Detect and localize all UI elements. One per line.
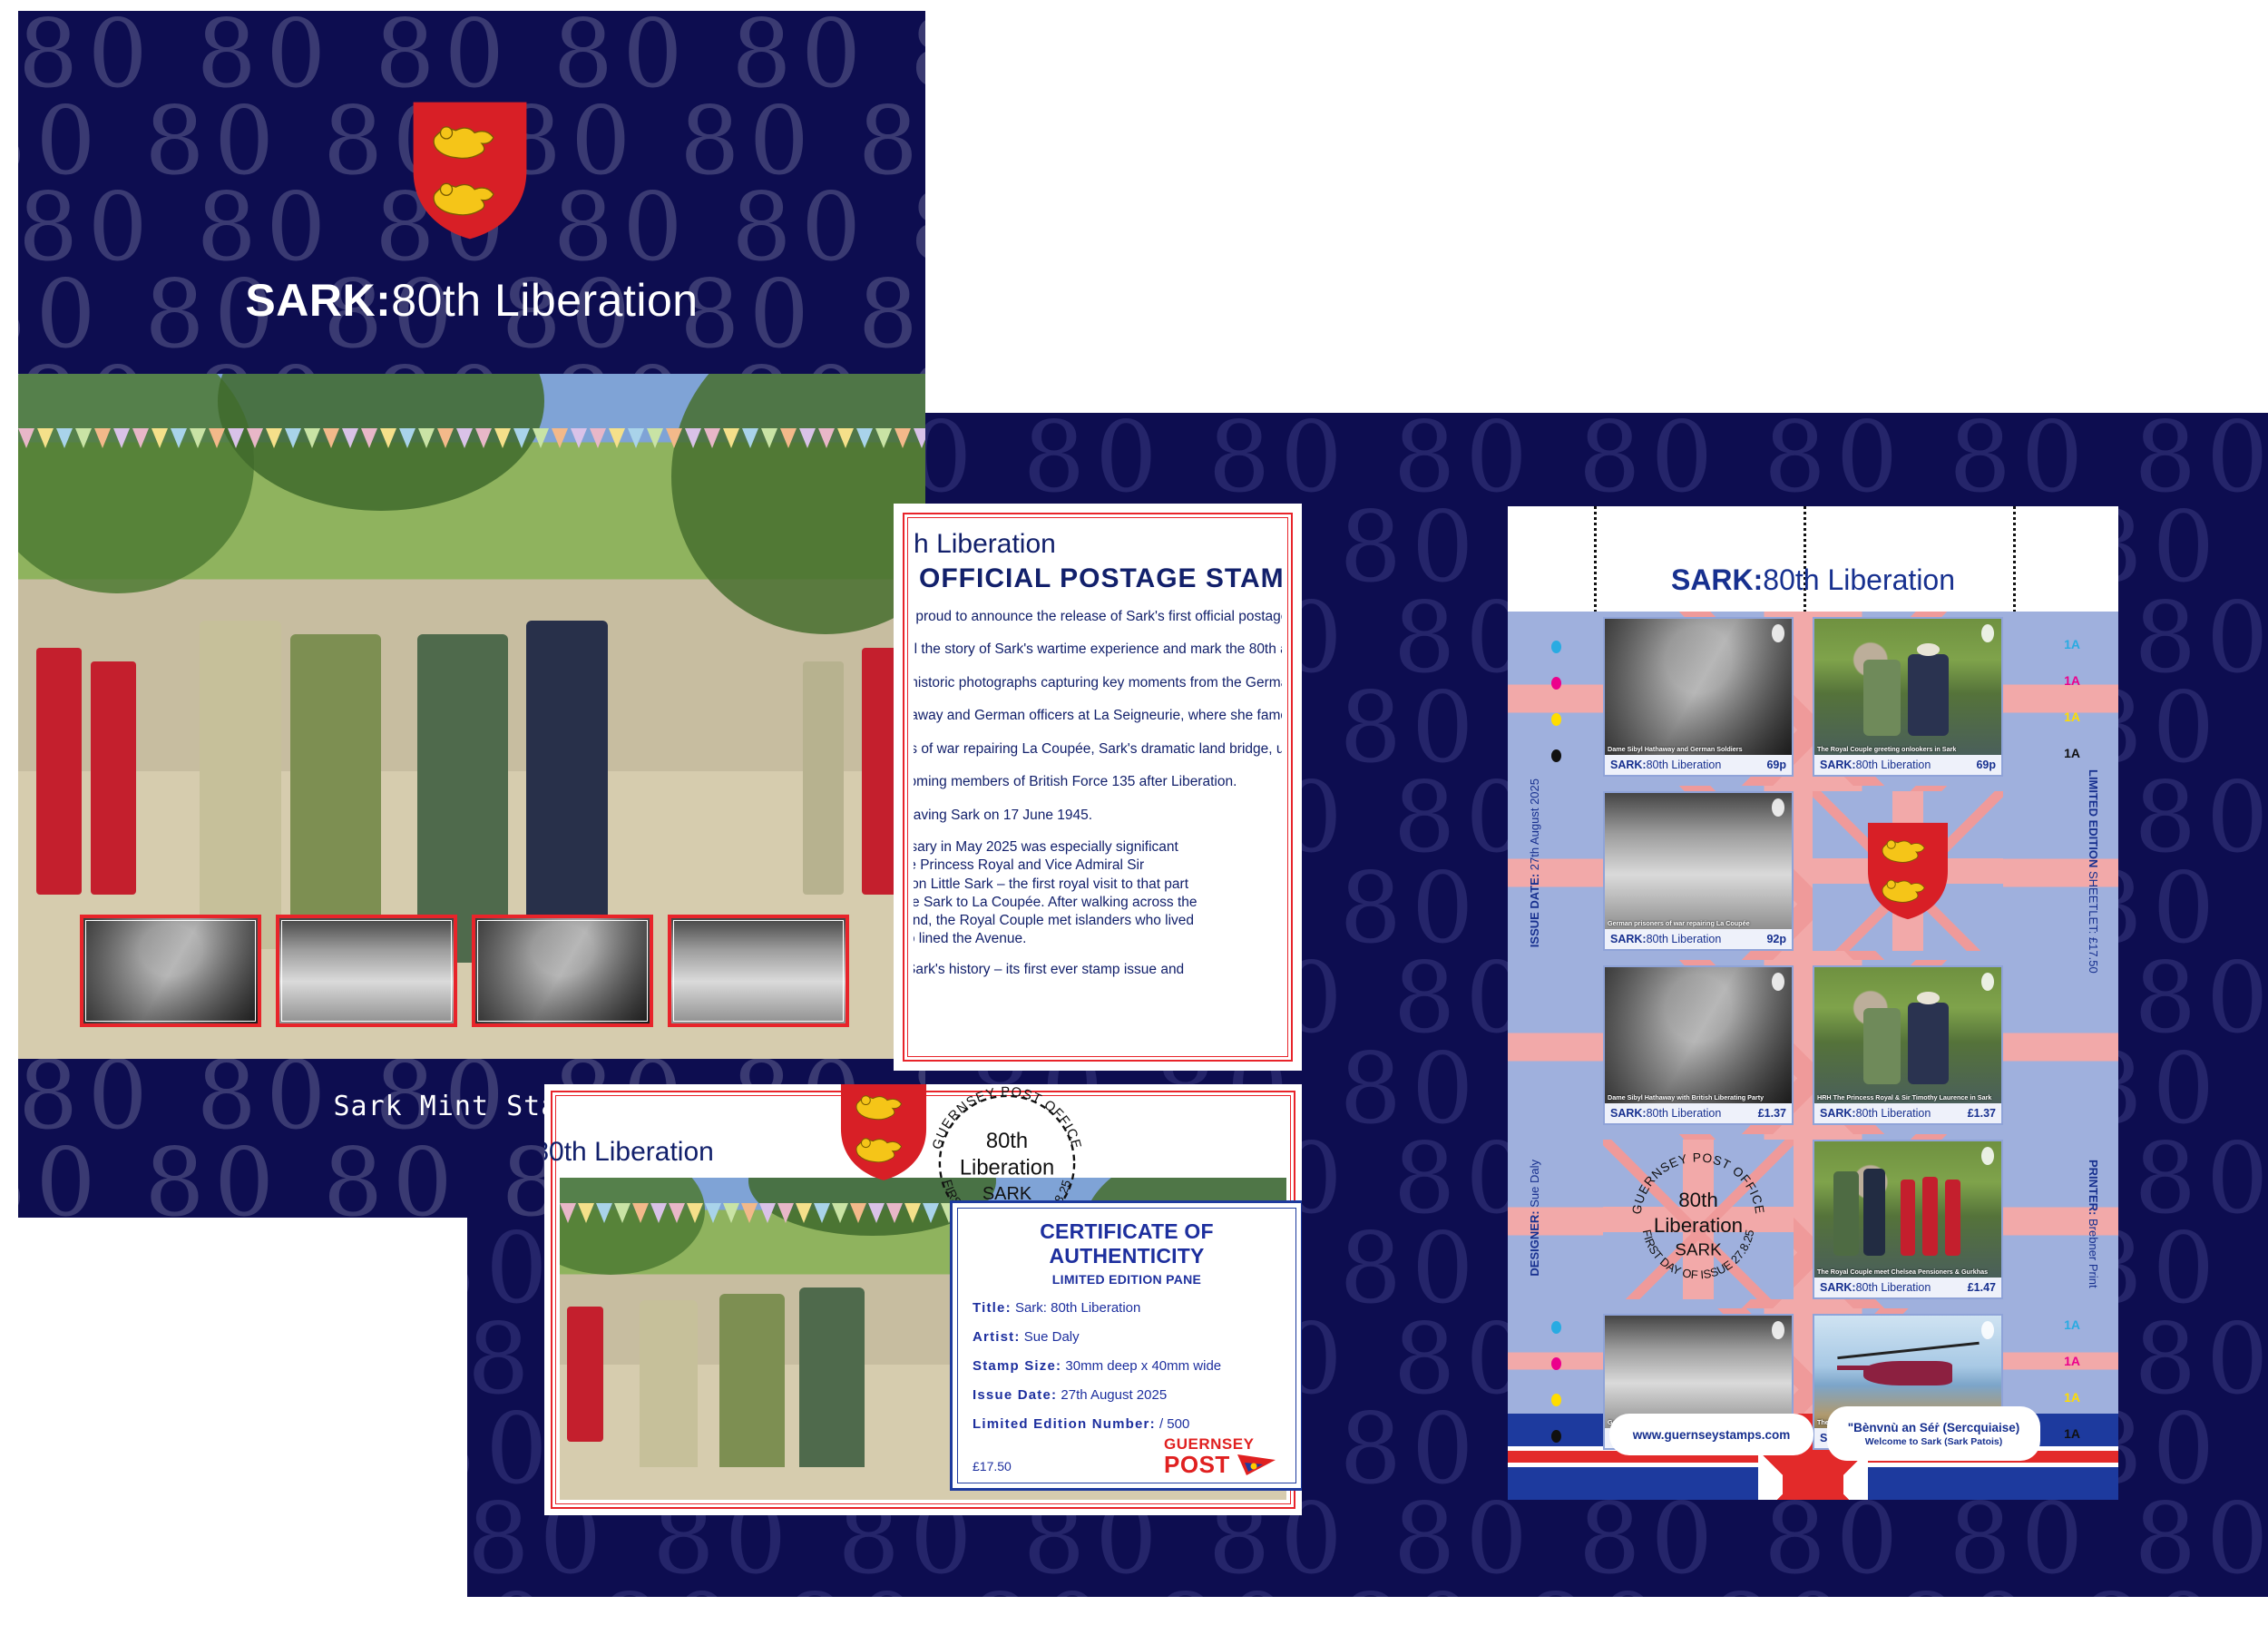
sheet-postmark-line-1: 80th (1678, 1189, 1718, 1211)
bunting-flag (723, 428, 739, 448)
bunting-flag (228, 428, 244, 448)
ink-dot-3 (1551, 1430, 1561, 1443)
certificate-price: £17.50 (973, 1459, 1012, 1473)
sheet-label-designer-key: DESIGNER: (1528, 1210, 1541, 1276)
stamp-4[interactable]: Dame Sibyl Hathaway with British Liberat… (1603, 965, 1794, 1125)
bunting-flag (37, 428, 54, 448)
certificate-row: Limited Edition Number: / 500 (973, 1416, 1281, 1432)
bunting-flag (113, 428, 130, 448)
leaflet-closing-line-1: nal milestone in Sark's history – its fi… (914, 961, 1282, 979)
certificate-leaflet: Sark: 80th Liberation (544, 1084, 1302, 1515)
plate-number-3: 1A (2064, 746, 2080, 760)
stamp-image (1814, 967, 2001, 1103)
guernsey-post-swoosh-icon (1236, 1452, 1277, 1477)
bunting-flag (647, 428, 663, 448)
plate-number-1: 1A (2064, 673, 2080, 688)
plate-number-0: 1A (2064, 1317, 2080, 1332)
plate-number-2: 1A (2064, 1390, 2080, 1405)
plate-number-3: 1A (2064, 1426, 2080, 1441)
cover-thumbnail-german-troops-leaving (668, 915, 849, 1027)
bunting-flag (418, 428, 435, 448)
bunting-flag (323, 428, 339, 448)
stamp-footer: SARK:80th Liberation£1.47 (1814, 1278, 2001, 1297)
leaflet-closing: nal milestone in Sark's history – its fi… (914, 961, 1282, 997)
bunting-flag (796, 1203, 812, 1223)
stamp-footer: SARK:80th Liberation£1.37 (1605, 1103, 1792, 1123)
sheet-postmark-cell: GUERNSEY POST OFFICEFIRST DAY OF ISSUE 2… (1603, 1140, 1794, 1299)
bunting-flag (761, 428, 777, 448)
leaflet-para-6: Dame Sibyl welcoming members of British … (914, 772, 1282, 792)
bunting-decor (18, 428, 925, 459)
stamp-elliptical-perf (1772, 973, 1784, 991)
stamp-caption: HRH The Princess Royal & Sir Timothy Lau… (1817, 1093, 1999, 1101)
sheet-label-designer: DESIGNER: Sue Daly (1528, 1160, 1541, 1277)
leaflet-block-line-2: stamps. HRH The Princess Royal and Vice … (914, 857, 1282, 875)
bunting-flag (437, 428, 454, 448)
leaflet-block-line-6: and Gurkhas who lined the Avenue. (914, 930, 1282, 948)
bunting-flag (571, 428, 587, 448)
stamp-caption: Dame Sibyl Hathaway with British Liberat… (1608, 1093, 1789, 1101)
leaflet-para-3: The set features historic photographs ca… (914, 673, 1282, 693)
stamp-2[interactable]: The Royal Couple greeting onlookers in S… (1813, 617, 2003, 777)
stamp-1[interactable]: Dame Sibyl Hathaway and German SoldiersS… (1603, 617, 1794, 777)
bunting-flag (666, 428, 682, 448)
ink-dot-1 (1551, 1357, 1561, 1370)
sheet-label-limited-edition-value: SHEETLET: £17.50 (2087, 871, 2100, 974)
plate-number-0: 1A (2064, 637, 2080, 651)
leaflet-para-2: stamp issue to tell the story of Sark's … (914, 640, 1282, 660)
bunting-flag (399, 428, 415, 448)
bunting-flag (868, 1203, 885, 1223)
certificate-card: CERTIFICATE OF AUTHENTICITY LIMITED EDIT… (950, 1200, 1302, 1491)
leaflet-body: Sark: 80th Liberation FIRST OFFICIAL POS… (914, 529, 1282, 1049)
certleaf-partial-title: Sark: 80th Liberation (544, 1137, 714, 1168)
bunting-flag (152, 428, 168, 448)
bunting-flag (18, 428, 34, 448)
leaflet-title-2: FIRST OFFICIAL POSTAGE STAMPS (914, 563, 1282, 594)
bunting-flag (723, 1203, 739, 1223)
eighty-pattern-row: 80 80 80 80 80 80 80 80 80 80 80 80 80 8… (467, 1585, 2268, 1597)
stamp-elliptical-perf (1981, 1147, 1994, 1165)
sheet-postmark-line-3: SARK (1675, 1241, 1722, 1260)
bunting-flag (75, 428, 92, 448)
bunting-flag (361, 428, 377, 448)
certificate-row-value: Sark: 80th Liberation (1015, 1300, 1140, 1316)
sheet-website-pill[interactable]: www.guernseystamps.com (1609, 1414, 1813, 1455)
cover-title-bold: SARK (245, 275, 376, 326)
leaflet-title-1: Sark: 80th Liberation (914, 529, 1282, 560)
cover-title-colon: : (376, 275, 391, 326)
bunting-flag (614, 1203, 631, 1223)
sheet-website-text: www.guernseystamps.com (1633, 1428, 1791, 1442)
plate-number-2: 1A (2064, 710, 2080, 724)
guernsey-post-logo-line1: GUERNSEY (1164, 1436, 1286, 1452)
stamp-label-light: 80th Liberation (1856, 759, 1931, 771)
leaflet-para-4: Dame Sibyl Hathaway and German officers … (914, 706, 1282, 726)
leaflet-para-5: German prisoners of war repairing La Cou… (914, 739, 1282, 759)
stamp-label-light: 80th Liberation (1647, 759, 1722, 771)
bunting-flag (777, 1203, 794, 1223)
plate-number-1: 1A (2064, 1354, 2080, 1368)
sheet-patois-line2: Welcome to Sark (Sark Patois) (1865, 1436, 2003, 1447)
leaflet-block: The 80th anniversary in May 2025 was esp… (914, 838, 1282, 948)
bunting-flag (669, 1203, 685, 1223)
bunting-flag (513, 428, 530, 448)
bunting-flag (904, 1203, 921, 1223)
sheet-header-title: SARK:80th Liberation (1508, 548, 2118, 612)
stamp-footer: SARK:80th Liberation69p (1814, 755, 2001, 775)
cover-thumbnail-strip (80, 915, 849, 1027)
bunting-flag (494, 428, 511, 448)
sheet-label-printer-key: PRINTER: (2087, 1160, 2100, 1215)
bunting-flag (552, 428, 568, 448)
bunting-flag (132, 428, 149, 448)
booklet-cover: 80 80 80 80 80 80 80 80 80 80 80 80 80 8… (18, 11, 925, 1218)
stamp-image (1814, 619, 2001, 755)
certificate-row-value: Sue Daly (1024, 1329, 1080, 1345)
bunting-flag (759, 1203, 776, 1223)
sheet-patois-pill: "Bènvnù an Séṙ (Sercquiaise) Welcome to … (1827, 1406, 2040, 1461)
leaflet-closing-line-2: d heritage. (914, 979, 1282, 997)
bunting-flag (475, 428, 492, 448)
sheet-postmark-line-2: Liberation (1654, 1214, 1743, 1237)
certificate-row: Issue Date: 27th August 2025 (973, 1387, 1281, 1403)
sheet-label-issue-date: ISSUE DATE: 27th August 2025 (1528, 778, 1541, 947)
ink-dot-0 (1551, 1321, 1561, 1334)
bunting-flag (209, 428, 225, 448)
stamp-value: £1.37 (1758, 1107, 1786, 1120)
stamp-elliptical-perf (1772, 1321, 1784, 1339)
stamp-label-bold: SARK (1610, 759, 1642, 771)
leaflet-block-line-5: with the main island, the Royal Couple m… (914, 912, 1282, 930)
stamp-value: 69p (1766, 759, 1786, 771)
ink-dot-3 (1551, 749, 1561, 762)
stamp-caption: The Royal Couple meet Chelsea Pensioners… (1817, 1268, 1999, 1276)
stamp-label-light: 80th Liberation (1647, 933, 1722, 945)
certificate-row-value: / 500 (1159, 1416, 1189, 1432)
stamp-6[interactable]: The Royal Couple meet Chelsea Pensioners… (1813, 1140, 2003, 1299)
bunting-flag (687, 1203, 703, 1223)
sheet-label-limited-edition: LIMITED EDITION SHEETLET: £17.50 (2087, 769, 2100, 974)
ink-dot-1 (1551, 677, 1561, 690)
sark-shield-icon (410, 100, 530, 241)
bunting-flag (609, 428, 625, 448)
certificate-row-value: 27th August 2025 (1061, 1387, 1167, 1403)
leaflet-block-line-3: ing by helicopter on Little Sark – the f… (914, 876, 1282, 894)
stamp-label-bold: SARK (1610, 933, 1642, 945)
stamp-image (1605, 1316, 1792, 1428)
sheet-header-colon: : (1754, 563, 1764, 597)
stamp-caption: German prisoners of war repairing La Cou… (1608, 919, 1789, 927)
stamp-elliptical-perf (1981, 624, 1994, 642)
certificate-row-value: 30mm deep x 40mm wide (1065, 1358, 1221, 1374)
stamp-value: £1.47 (1968, 1281, 1996, 1294)
bunting-flag (818, 428, 835, 448)
bunting-flag (650, 1203, 667, 1223)
stamp-value: 69p (1976, 759, 1996, 771)
cover-title: SARK:80th Liberation (18, 274, 925, 327)
sheet-label-printer: PRINTER: Brebner Print (2087, 1160, 2100, 1288)
bunting-flag (94, 428, 111, 448)
sheet-label-limited-edition-key: LIMITED EDITION (2087, 769, 2100, 867)
stamp-image (1605, 619, 1792, 755)
bunting-flag (533, 428, 549, 448)
bunting-flag (832, 1203, 848, 1223)
bunting-flag (886, 1203, 903, 1223)
bunting-flag (894, 428, 911, 448)
stamp-footer: SARK:80th Liberation£1.37 (1814, 1103, 2001, 1123)
leaflet-block-line-1: The 80th anniversary in May 2025 was esp… (914, 838, 1282, 857)
bunting-flag (632, 1203, 649, 1223)
stamp-label-light: 80th Liberation (1647, 1107, 1722, 1120)
certificate-row-key: Title: (973, 1300, 1012, 1316)
bunting-flag (590, 428, 606, 448)
bunting-flag (914, 428, 925, 448)
bunting-flag (628, 428, 644, 448)
limited-edition-sheetlet: SARK:80th Liberation Dame Sibyl Hathaway… (1508, 506, 2118, 1500)
cover-title-light: 80th Liberation (391, 275, 698, 326)
sheet-patois-line1: "Bènvnù an Séṙ (Sercquiaise) (1848, 1421, 2019, 1434)
certificate-row: Title: Sark: 80th Liberation (973, 1300, 1281, 1316)
certificate-row-key: Limited Edition Number: (973, 1416, 1156, 1432)
bunting-flag (705, 1203, 721, 1223)
postmark-line-2: Liberation (960, 1155, 1054, 1180)
stamp-footer: SARK:80th Liberation69p (1605, 755, 1792, 775)
certificate-row: Stamp Size: 30mm deep x 40mm wide (973, 1358, 1281, 1374)
bunting-flag (190, 428, 206, 448)
stamp-elliptical-perf (1772, 798, 1784, 817)
bunting-flag (742, 428, 758, 448)
cover-thumbnail-british-liberating-party (472, 915, 653, 1027)
bunting-flag (247, 428, 263, 448)
postmark-line-1: 80th (986, 1129, 1028, 1153)
bunting-flag (799, 428, 816, 448)
certificate-row-key: Issue Date: (973, 1387, 1057, 1403)
ink-dot-2 (1551, 1394, 1561, 1406)
sheet-label-printer-value: Brebner Print (2087, 1219, 2100, 1288)
guernsey-post-logo: GUERNSEY POST (1164, 1436, 1286, 1477)
bunting-flag (304, 428, 320, 448)
bunting-flag (685, 428, 701, 448)
info-leaflet: Sark: 80th Liberation FIRST OFFICIAL POS… (894, 504, 1302, 1071)
bunting-flag (578, 1203, 594, 1223)
bunting-flag (56, 428, 73, 448)
sheet-header-light: 80th Liberation (1763, 563, 1955, 597)
screenshot-root: 80 80 80 80 80 80 80 80 80 80 80 80 80 8… (0, 0, 2268, 1635)
stamp-elliptical-perf (1981, 1321, 1994, 1339)
bunting-flag (342, 428, 358, 448)
stamp-value: 92p (1766, 933, 1786, 945)
guernsey-post-logo-line2: POST (1164, 1453, 1230, 1476)
certificate-subheading: LIMITED EDITION PANE (973, 1272, 1281, 1287)
sheet-header-bold: SARK (1671, 563, 1754, 597)
bunting-flag (850, 1203, 866, 1223)
bunting-flag (266, 428, 282, 448)
certificate-row: Artist: Sue Daly (973, 1329, 1281, 1345)
ink-dot-0 (1551, 641, 1561, 653)
leaflet-block-line-4: he hamlet on Little Sark to La Coupée. A… (914, 894, 1282, 912)
leaflet-para-7: German troops leaving Sark on 17 June 19… (914, 806, 1282, 826)
cover-thumbnail-la-coupee-repair (276, 915, 457, 1027)
sheet-shield-cell (1813, 791, 2003, 951)
sheet-label-issue-date-value: 27th August 2025 (1528, 778, 1541, 870)
leaflet-para-1: Guernsey Post is proud to announce the r… (914, 607, 1282, 627)
bunting-flag (856, 428, 873, 448)
stamp-caption: Dame Sibyl Hathaway and German Soldiers (1608, 745, 1789, 753)
bunting-flag (741, 1203, 758, 1223)
stamp-caption: The Royal Couple greeting onlookers in S… (1817, 745, 1999, 753)
stamp-footer: SARK:80th Liberation92p (1605, 929, 1792, 949)
bunting-flag (285, 428, 301, 448)
bunting-flag (704, 428, 720, 448)
bunting-flag (171, 428, 187, 448)
bunting-flag (837, 428, 854, 448)
bunting-flag (456, 428, 473, 448)
stamp-image (1605, 967, 1792, 1103)
stamp-image (1605, 793, 1792, 929)
stamp-elliptical-perf (1772, 624, 1784, 642)
certificate-content: CERTIFICATE OF AUTHENTICITY LIMITED EDIT… (973, 1219, 1281, 1472)
stamp-image (1814, 1141, 2001, 1278)
bunting-flag (560, 1203, 576, 1223)
stamp-label-light: 80th Liberation (1856, 1107, 1931, 1120)
stamp-label-light: 80th Liberation (1856, 1281, 1931, 1294)
bunting-flag (780, 428, 797, 448)
stamp-label-bold: SARK (1820, 759, 1852, 771)
bunting-flag (875, 428, 892, 448)
stamp-value: £1.37 (1968, 1107, 1996, 1120)
cover-thumbnail-dame-sibyl-german-soldiers (80, 915, 261, 1027)
bunting-flag (596, 1203, 612, 1223)
sark-shield-icon-certificate (839, 1084, 928, 1182)
stamp-5[interactable]: HRH The Princess Royal & Sir Timothy Lau… (1813, 965, 2003, 1125)
stamp-label-bold: SARK (1820, 1281, 1852, 1294)
certificate-row-key: Artist: (973, 1329, 1021, 1345)
stamp-label-bold: SARK (1610, 1107, 1642, 1120)
ink-dot-2 (1551, 713, 1561, 726)
bunting-flag (814, 1203, 830, 1223)
stamp-3[interactable]: German prisoners of war repairing La Cou… (1603, 791, 1794, 951)
certificate-field-list: Title: Sark: 80th LiberationArtist: Sue … (973, 1300, 1281, 1432)
certificate-heading: CERTIFICATE OF AUTHENTICITY (973, 1219, 1281, 1268)
sheet-label-issue-date-key: ISSUE DATE: (1528, 874, 1541, 947)
eighty-pattern-row: 80 80 80 80 80 80 80 80 80 (18, 11, 925, 98)
stamp-elliptical-perf (1981, 973, 1994, 991)
certificate-row-key: Stamp Size: (973, 1358, 1061, 1374)
bunting-flag (380, 428, 396, 448)
sheet-label-designer-value: Sue Daly (1528, 1160, 1541, 1208)
stamp-label-bold: SARK (1820, 1107, 1852, 1120)
